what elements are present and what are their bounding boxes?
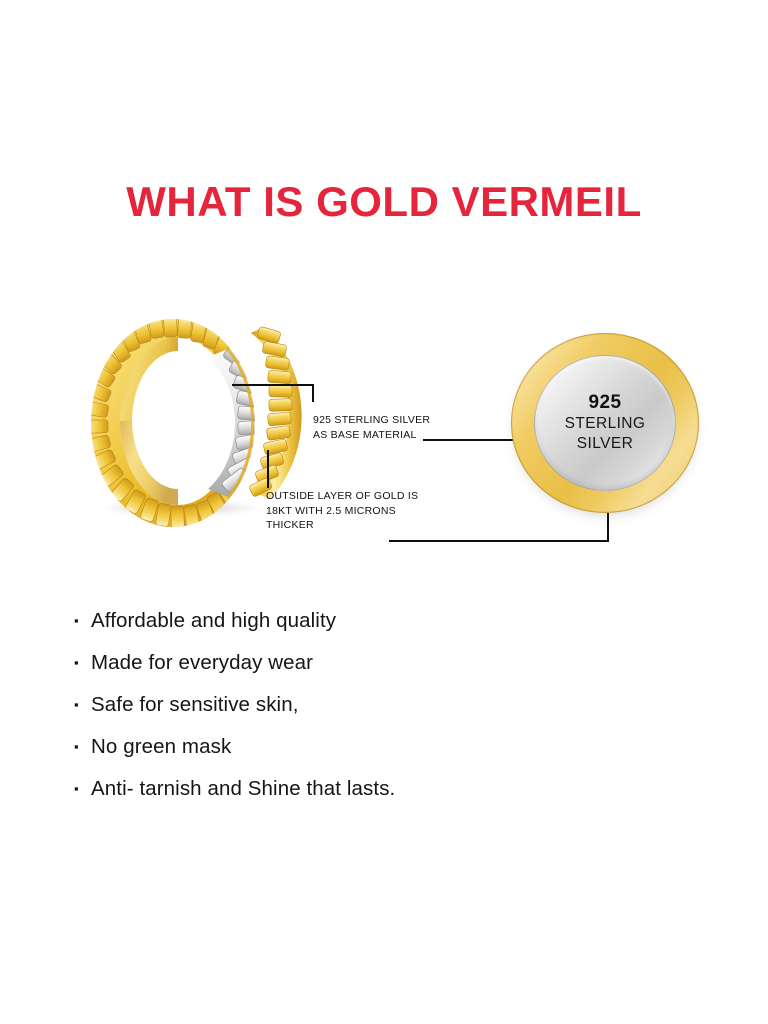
- list-item: ▪ Safe for sensitive skin,: [74, 690, 554, 732]
- bullet-square-icon: ▪: [74, 648, 91, 678]
- annotation-silver-base: 925 STERLING SILVER AS BASE MATERIAL: [313, 413, 430, 442]
- list-item-label: Affordable and high quality: [91, 606, 336, 636]
- list-item-label: No green mask: [91, 732, 231, 762]
- list-item: ▪ Made for everyday wear: [74, 648, 554, 690]
- page-title: WHAT IS GOLD VERMEIL: [0, 178, 768, 226]
- list-item: ▪ Affordable and high quality: [74, 606, 554, 648]
- list-item: ▪ Anti- tarnish and Shine that lasts.: [74, 774, 554, 816]
- bullet-square-icon: ▪: [74, 690, 91, 720]
- infographic-page: WHAT IS GOLD VERMEIL: [0, 0, 768, 1024]
- badge-label-silver: SILVER: [577, 434, 633, 454]
- bullet-square-icon: ▪: [74, 606, 91, 636]
- benefits-list: ▪ Affordable and high quality ▪ Made for…: [74, 606, 554, 816]
- badge-gold-rim: 925 STERLING SILVER: [511, 333, 699, 513]
- list-item-label: Made for everyday wear: [91, 648, 313, 678]
- list-item-label: Anti- tarnish and Shine that lasts.: [91, 774, 395, 804]
- list-item-label: Safe for sensitive skin,: [91, 690, 299, 720]
- ring-outer-gold-layer-arc: [248, 326, 301, 499]
- list-item: ▪ No green mask: [74, 732, 554, 774]
- bullet-square-icon: ▪: [74, 732, 91, 762]
- badge-label-sterling: STERLING: [565, 414, 646, 434]
- annotation-gold-layer: OUTSIDE LAYER OF GOLD IS 18KT WITH 2.5 M…: [266, 489, 418, 533]
- badge-silver-face: 925 STERLING SILVER: [534, 355, 676, 491]
- sterling-silver-badge: 925 STERLING SILVER: [511, 333, 699, 513]
- badge-purity-value: 925: [589, 392, 622, 414]
- bullet-square-icon: ▪: [74, 774, 91, 804]
